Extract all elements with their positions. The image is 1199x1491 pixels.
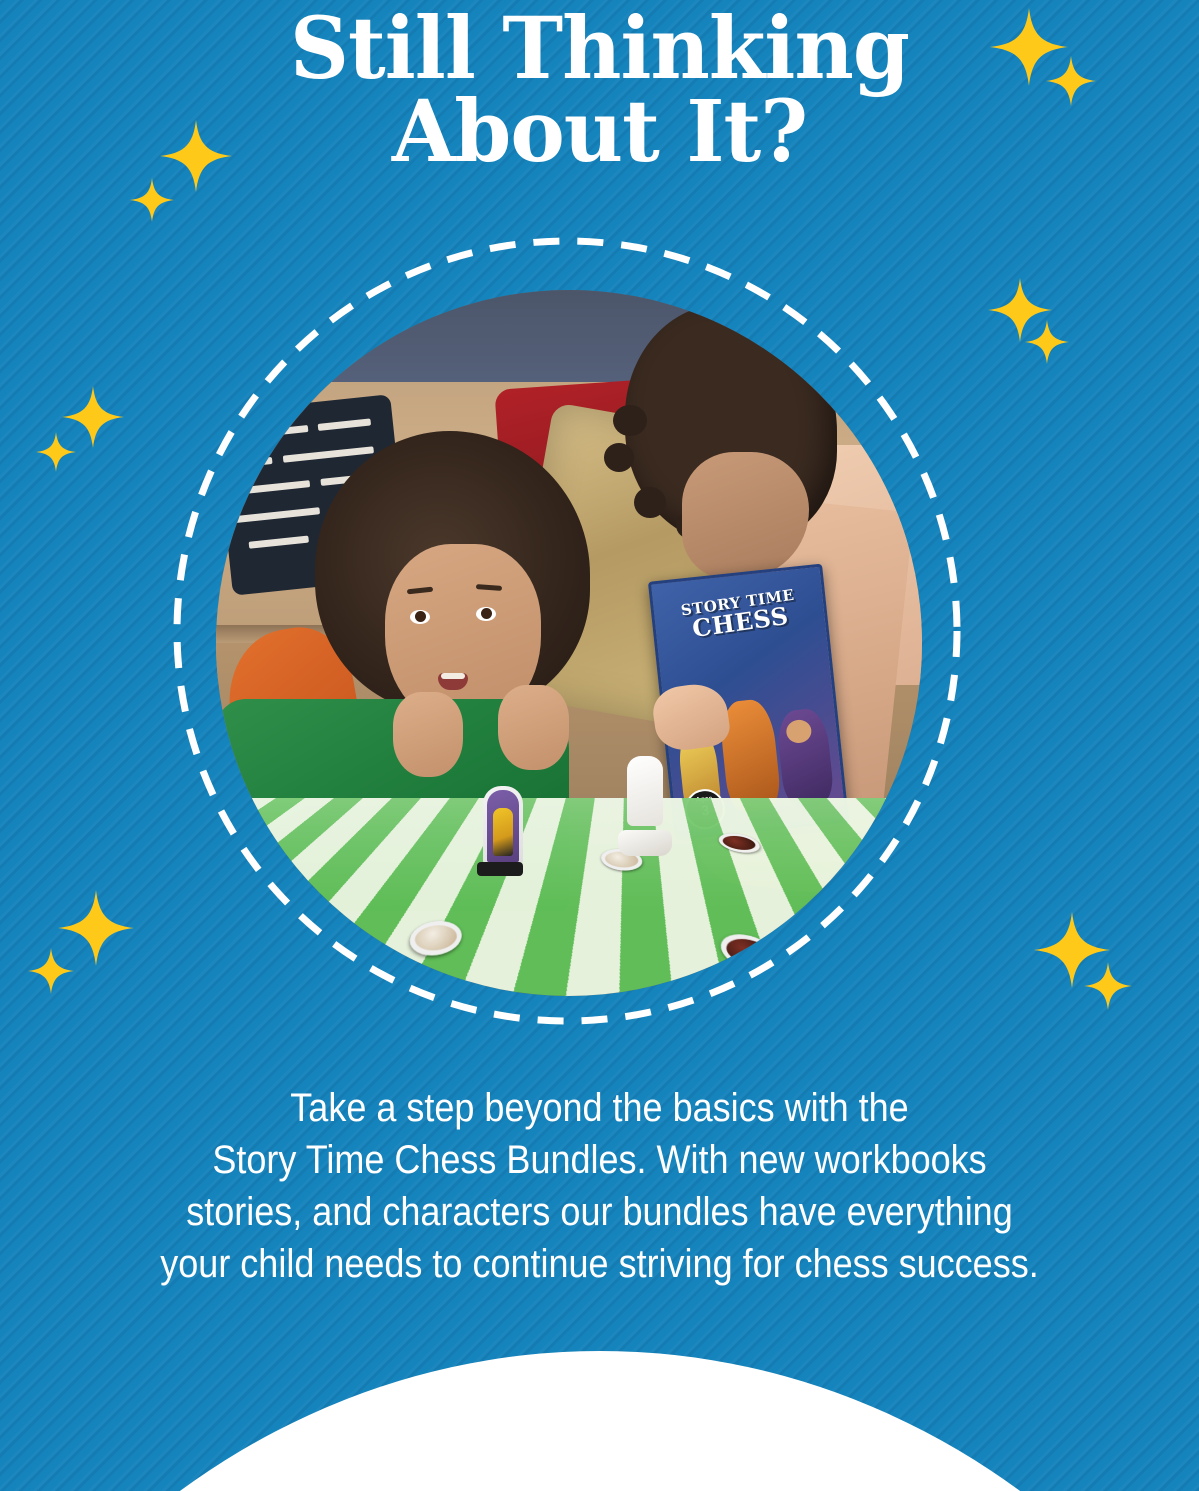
sparkle-star-icon bbox=[28, 948, 74, 994]
body-paragraph: Take a step beyond the basics with the S… bbox=[0, 1082, 1199, 1290]
body-line-2: Story Time Chess Bundles. With new workb… bbox=[60, 1134, 1139, 1186]
piece-base bbox=[618, 830, 672, 856]
piece-card-hero-art bbox=[493, 808, 513, 856]
page-title: Still Thinking About It? bbox=[0, 8, 1199, 175]
chess-piece-black-character bbox=[477, 784, 523, 876]
body-line-1: Take a step beyond the basics with the bbox=[60, 1082, 1139, 1134]
face-brow-right bbox=[475, 584, 501, 591]
piece-base bbox=[477, 862, 523, 876]
body-line-3: stories, and characters our bundles have… bbox=[60, 1186, 1139, 1238]
body-line-4: your child needs to continue striving fo… bbox=[60, 1238, 1139, 1290]
photo-scene: STORY TIME CHESS Ages 3 bbox=[216, 290, 922, 996]
chess-piece-white-rook bbox=[618, 756, 672, 856]
headline-line-2: About It? bbox=[24, 91, 1175, 174]
scene-child-young-hand-right bbox=[498, 685, 569, 770]
piece-body bbox=[627, 756, 663, 826]
face-eye-left bbox=[410, 610, 430, 624]
piece-character-card bbox=[483, 786, 523, 864]
sparkle-star-icon bbox=[1025, 320, 1069, 364]
sparkle-star-icon bbox=[36, 432, 76, 472]
scene-child-young-hand-left bbox=[393, 692, 464, 777]
bottom-curve-divider bbox=[0, 1351, 1199, 1491]
hero-photo: STORY TIME CHESS Ages 3 bbox=[216, 290, 922, 996]
sparkle-star-icon bbox=[1084, 962, 1132, 1010]
face-eye-right bbox=[476, 607, 496, 621]
promo-poster: Still Thinking About It? bbox=[0, 0, 1199, 1491]
sparkle-star-icon bbox=[130, 178, 174, 222]
face-mouth bbox=[438, 673, 468, 690]
headline-line-1: Still Thinking bbox=[24, 8, 1175, 91]
face-brow-left bbox=[407, 587, 433, 595]
game-box-title: STORY TIME CHESS bbox=[663, 586, 816, 645]
